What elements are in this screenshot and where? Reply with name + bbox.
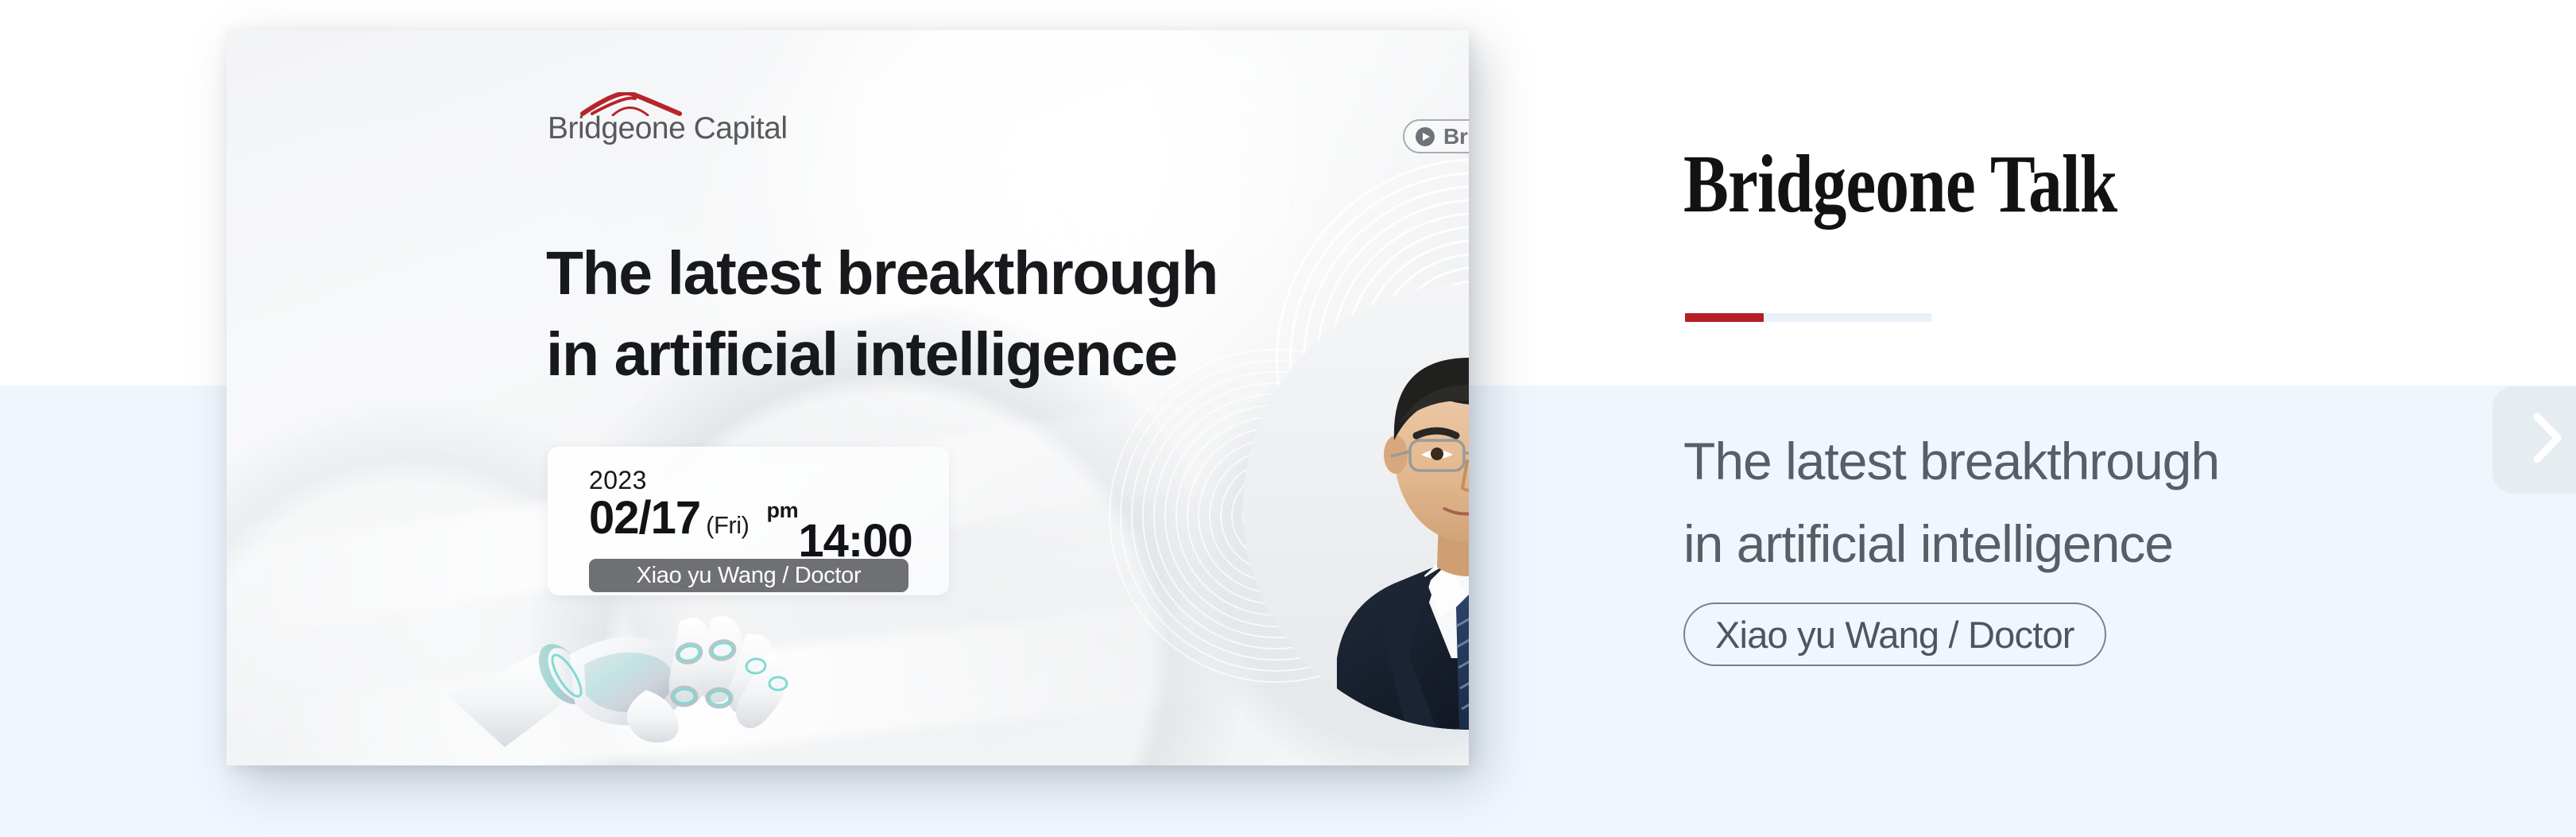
brand-wordmark: Bridgeone Capital: [548, 111, 788, 146]
speaker-button[interactable]: Xiao yu Wang / Doctor: [1683, 603, 2106, 666]
play-circle-icon: [1416, 127, 1435, 146]
event-datetime: 02/17 (Fri) pm 14:00: [589, 491, 912, 568]
page-title: Bridgeone Talk: [1683, 137, 2117, 231]
right-info-panel: Bridgeone Talk The latest breakthrough i…: [1683, 0, 2576, 837]
right-headline: The latest breakthrough in artificial in…: [1683, 420, 2335, 586]
portrait-zone: [1176, 202, 1469, 750]
chevron-right-icon: [2528, 410, 2566, 470]
right-headline-line-2: in artificial intelligence: [1683, 502, 2335, 585]
event-date: 02/17: [589, 491, 700, 544]
slide-progress-fill: [1685, 313, 1764, 322]
slide-progress-bar[interactable]: [1685, 313, 1931, 322]
slide-card[interactable]: Bridgeone Capital BridgeOne Talk The lat…: [227, 30, 1469, 765]
speaker-tag-label: Xiao yu Wang / Doctor: [637, 563, 862, 589]
event-day-of-week: (Fri): [706, 511, 749, 540]
talk-badge-label: BridgeOne Talk: [1443, 124, 1469, 149]
slider-stage: Bridgeone Capital BridgeOne Talk The lat…: [0, 0, 2576, 837]
slide-headline-line-2: in artificial intelligence: [546, 315, 1261, 396]
speaker-portrait: [1243, 285, 1469, 730]
slide-headline-line-1: The latest breakthrough: [546, 234, 1261, 315]
speaker-button-label: Xiao yu Wang / Doctor: [1715, 613, 2074, 657]
speaker-tag: Xiao yu Wang / Doctor: [589, 559, 908, 592]
event-meridiem: pm: [766, 498, 798, 523]
right-headline-line-1: The latest breakthrough: [1683, 420, 2335, 502]
brand-logo[interactable]: Bridgeone Capital: [548, 92, 794, 146]
next-slide-button[interactable]: [2493, 386, 2576, 494]
slide-headline: The latest breakthrough in artificial in…: [546, 234, 1261, 395]
robotic-hand-illustration: [449, 577, 823, 765]
date-card: 2023 02/17 (Fri) pm 14:00 Xiao yu Wang /…: [548, 447, 949, 595]
talk-badge[interactable]: BridgeOne Talk: [1403, 119, 1469, 153]
